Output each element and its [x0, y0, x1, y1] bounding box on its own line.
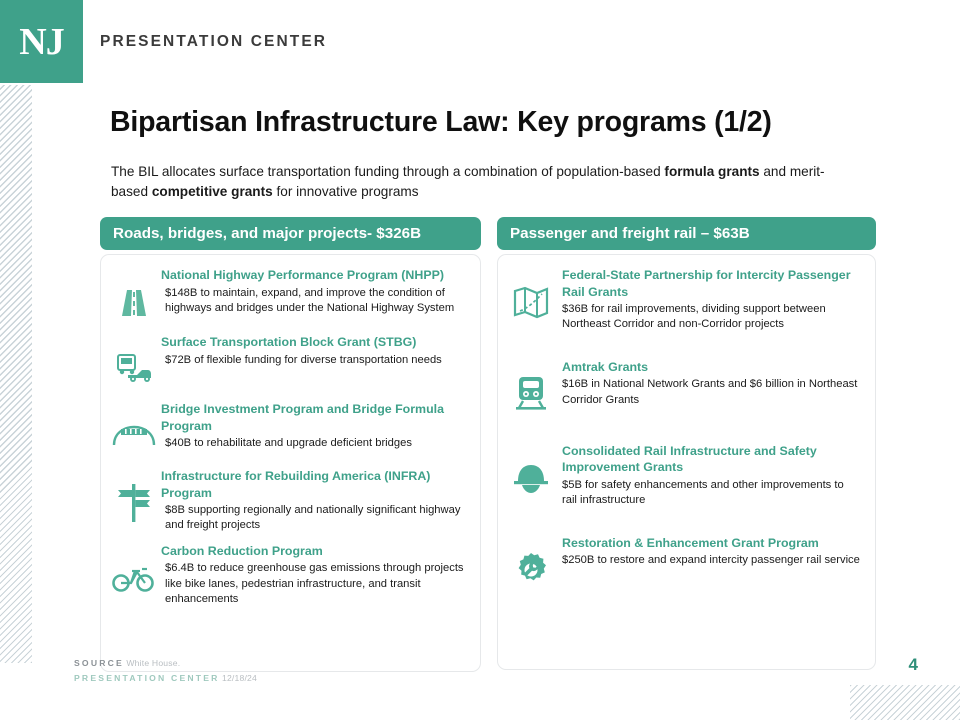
- gear-wrench-icon: [508, 547, 554, 593]
- list-item-title: National Highway Performance Program (NH…: [161, 267, 466, 284]
- list-item-body: Restoration & Enhancement Grant Program …: [558, 533, 861, 569]
- bicycle-icon: [111, 555, 157, 601]
- list-item-body: Bridge Investment Program and Bridge For…: [161, 399, 466, 451]
- folded-map-icon: [508, 279, 554, 325]
- list-item-desc: $5B for safety enhancements and other im…: [558, 478, 861, 509]
- list-item-title: Amtrak Grants: [558, 359, 861, 376]
- list-item-desc: $148B to maintain, expand, and improve t…: [161, 286, 466, 317]
- hard-hat-icon: [508, 455, 554, 501]
- decorative-stripe-band-left: [0, 85, 32, 663]
- footer-source-row: SOURCE White House.: [74, 656, 257, 671]
- list-item-desc: $72B of flexible funding for diverse tra…: [161, 353, 466, 368]
- list-item-body: Federal-State Partnership for Intercity …: [558, 265, 861, 333]
- list-item-body: Surface Transportation Block Grant (STBG…: [161, 332, 466, 368]
- list-item-title: Bridge Investment Program and Bridge For…: [161, 401, 466, 434]
- footer: SOURCE White House. PRESENTATION CENTER …: [74, 656, 257, 686]
- brand-logo-square: NJ: [0, 0, 83, 83]
- list-item: Surface Transportation Block Grant (STBG…: [111, 332, 466, 392]
- list-item-desc: $16B in National Network Grants and $6 b…: [558, 377, 861, 408]
- list-item-body: Consolidated Rail Infrastructure and Saf…: [558, 441, 861, 509]
- list-item: National Highway Performance Program (NH…: [111, 265, 466, 325]
- list-item: Restoration & Enhancement Grant Program …: [508, 533, 861, 593]
- list-item-desc: $6.4B to reduce greenhouse gas emissions…: [161, 561, 466, 607]
- page-subtitle: The BIL allocates surface transportation…: [111, 162, 851, 202]
- footer-date: 12/18/24: [222, 673, 257, 683]
- subtitle-text-3: for innovative programs: [273, 184, 419, 199]
- footer-brand-label: PRESENTATION CENTER: [74, 673, 220, 683]
- brand-name: PRESENTATION CENTER: [100, 33, 327, 51]
- column-roads-bridges: Roads, bridges, and major projects- $326…: [100, 217, 481, 672]
- list-item-body: Infrastructure for Rebuilding America (I…: [161, 466, 466, 534]
- bridge-icon: [111, 413, 157, 459]
- list-item: Consolidated Rail Infrastructure and Saf…: [508, 441, 861, 509]
- column-header-roads-bridges: Roads, bridges, and major projects- $326…: [100, 217, 481, 250]
- list-item: Carbon Reduction Program $6.4B to reduce…: [111, 541, 466, 608]
- list-item-desc: $36B for rail improvements, dividing sup…: [558, 302, 861, 333]
- list-item-body: Carbon Reduction Program $6.4B to reduce…: [161, 541, 466, 608]
- list-item-title: Carbon Reduction Program: [161, 543, 466, 560]
- list-item: Amtrak Grants $16B in National Network G…: [508, 357, 861, 417]
- train-icon: [508, 371, 554, 417]
- list-item: Federal-State Partnership for Intercity …: [508, 265, 861, 333]
- page-number: 4: [909, 655, 918, 675]
- list-item: Bridge Investment Program and Bridge For…: [111, 399, 466, 459]
- list-item-body: National Highway Performance Program (NH…: [161, 265, 466, 316]
- subtitle-text-1: The BIL allocates surface transportation…: [111, 164, 664, 179]
- list-item-title: Consolidated Rail Infrastructure and Saf…: [558, 443, 861, 476]
- list-item-desc: $250B to restore and expand intercity pa…: [558, 553, 861, 568]
- highway-icon: [111, 279, 157, 325]
- subtitle-bold-2: competitive grants: [152, 184, 273, 199]
- list-item-body: Amtrak Grants $16B in National Network G…: [558, 357, 861, 408]
- list-item-desc: $8B supporting regionally and nationally…: [161, 503, 466, 534]
- footer-brand-row: PRESENTATION CENTER 12/18/24: [74, 671, 257, 686]
- list-item: Infrastructure for Rebuilding America (I…: [111, 466, 466, 534]
- signpost-icon: [111, 480, 157, 526]
- column-passenger-freight-rail: Passenger and freight rail – $63B Federa…: [497, 217, 876, 670]
- brand-logo-text: NJ: [19, 20, 63, 64]
- list-item-title: Federal-State Partnership for Intercity …: [558, 267, 861, 300]
- page-title: Bipartisan Infrastructure Law: Key progr…: [110, 106, 910, 139]
- bus-car-icon: [111, 346, 157, 392]
- column-card-passenger-freight-rail: Federal-State Partnership for Intercity …: [497, 254, 876, 670]
- subtitle-bold-1: formula grants: [664, 164, 759, 179]
- column-header-passenger-freight-rail: Passenger and freight rail – $63B: [497, 217, 876, 250]
- footer-source-label: SOURCE: [74, 658, 124, 668]
- list-item-title: Restoration & Enhancement Grant Program: [558, 535, 861, 552]
- footer-source-value: White House.: [126, 658, 180, 668]
- list-item-title: Surface Transportation Block Grant (STBG…: [161, 334, 466, 351]
- decorative-stripe-band-bottom-right: [850, 685, 960, 720]
- list-item-title: Infrastructure for Rebuilding America (I…: [161, 468, 466, 501]
- column-card-roads-bridges: National Highway Performance Program (NH…: [100, 254, 481, 672]
- list-item-desc: $40B to rehabilitate and upgrade deficie…: [161, 436, 466, 451]
